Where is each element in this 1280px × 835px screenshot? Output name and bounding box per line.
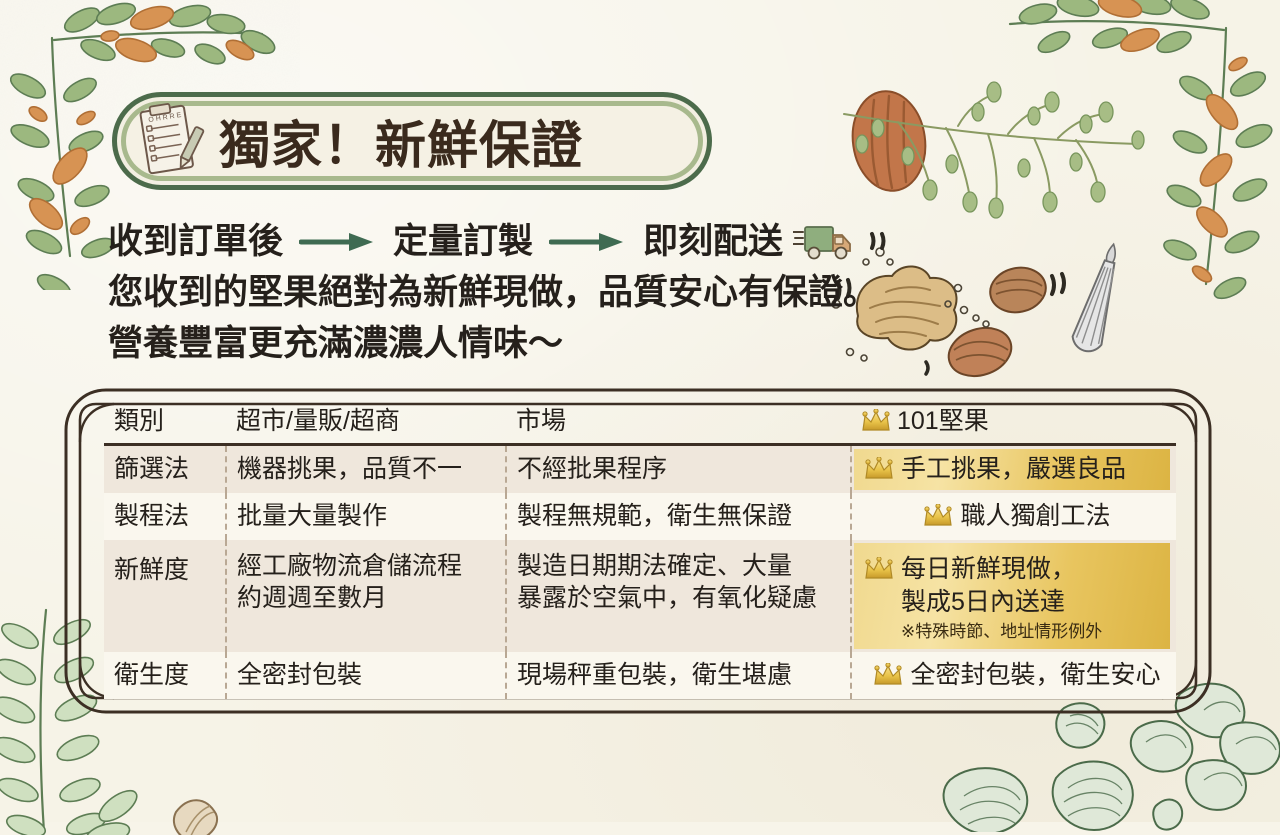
cell-text: 經工廠物流倉儲流程 bbox=[237, 550, 501, 583]
column-header-category: 類別 bbox=[104, 400, 226, 444]
cell-category: 新鮮度 bbox=[104, 540, 226, 652]
cell-text: 約週週至數月 bbox=[237, 582, 501, 615]
cell-supermarket: 全密封包裝 bbox=[226, 652, 506, 699]
cell-text: 現場秤重包裝，衛生堪慮 bbox=[517, 659, 846, 692]
arrow-right-icon bbox=[549, 216, 627, 267]
header-label: 類別 bbox=[114, 405, 222, 438]
cell-text: 全密封包裝，衛生安心 bbox=[910, 659, 1160, 692]
cell-supermarket: 批量大量製作 bbox=[226, 493, 506, 540]
table-header-row: 類別 超市/量販/超商 市場 bbox=[104, 400, 1176, 444]
cell-text: 全密封包裝 bbox=[237, 659, 501, 692]
cell-text: 手工挑果，嚴選良品 bbox=[901, 453, 1126, 486]
table-header: 類別 超市/量販/超商 市場 bbox=[104, 400, 1176, 444]
cell-category: 製程法 bbox=[104, 493, 226, 540]
cell-text: 每日新鮮現做， bbox=[901, 553, 1102, 586]
cell-text: 衛生度 bbox=[114, 659, 221, 692]
header-label: 101堅果 bbox=[897, 405, 989, 438]
cell-supermarket: 經工廠物流倉儲流程 約週週至數月 bbox=[226, 540, 506, 652]
cell-text: 新鮮度 bbox=[114, 554, 221, 587]
cell-category: 衛生度 bbox=[104, 652, 226, 699]
crown-icon bbox=[861, 409, 891, 433]
crown-icon bbox=[864, 457, 894, 481]
table-row: 衛生度 全密封包裝 現場秤重包裝，衛生堪慮 bbox=[104, 652, 1176, 699]
column-header-brand: 101堅果 bbox=[851, 400, 1176, 444]
process-step-3: 即刻配送 bbox=[643, 216, 783, 267]
cell-market: 製程無規範，衛生無保證 bbox=[506, 493, 851, 540]
cell-text: 批量大量製作 bbox=[237, 500, 501, 533]
cell-text: 製成5日內送達 bbox=[901, 586, 1102, 619]
cell-supermarket: 機器挑果，品質不一 bbox=[226, 444, 506, 493]
header-label: 市場 bbox=[516, 405, 847, 438]
intro-line-2: 您收到的堅果絕對為新鮮現做，品質安心有保證。 bbox=[108, 267, 898, 318]
crown-icon bbox=[923, 504, 953, 528]
delivery-truck-icon bbox=[793, 221, 859, 263]
process-step-1: 收到訂單後 bbox=[108, 216, 283, 267]
table-row: 製程法 批量大量製作 製程無規範，衛生無保證 bbox=[104, 493, 1176, 540]
cell-text: 機器挑果，品質不一 bbox=[237, 453, 501, 486]
cell-market: 不經批果程序 bbox=[506, 444, 851, 493]
cell-text: 製程無規範，衛生無保證 bbox=[517, 500, 846, 533]
intro-line-3: 營養豐富更充滿濃濃人情味～ bbox=[108, 318, 898, 369]
cell-text: 製程法 bbox=[114, 500, 221, 533]
arrow-right-icon bbox=[299, 216, 377, 267]
cell-text: 職人獨創工法 bbox=[960, 500, 1110, 533]
column-header-market: 市場 bbox=[506, 400, 851, 444]
clipboard-checklist-icon: O H R R E bbox=[131, 100, 209, 182]
cell-brand: 每日新鮮現做， 製成5日內送達 ※特殊時節、地址情形例外 bbox=[851, 540, 1176, 652]
cell-text: 製造日期期法確定、大量 bbox=[517, 550, 846, 583]
header-label: 超市/量販/超商 bbox=[236, 405, 502, 438]
cell-text: 暴露於空氣中，有氧化疑慮 bbox=[517, 582, 846, 615]
cell-note: ※特殊時節、地址情形例外 bbox=[901, 621, 1102, 643]
cell-brand: 手工挑果，嚴選良品 bbox=[851, 444, 1176, 493]
cell-brand: 全密封包裝，衛生安心 bbox=[851, 652, 1176, 699]
crown-icon bbox=[864, 557, 894, 581]
crown-icon bbox=[873, 663, 903, 687]
title-banner: O H R R E 獨家！新鮮保證 bbox=[112, 92, 712, 190]
column-header-supermarket: 超市/量販/超商 bbox=[226, 400, 506, 444]
process-step-2: 定量訂製 bbox=[393, 216, 533, 267]
cell-text: 不經批果程序 bbox=[517, 453, 846, 486]
table-body: 篩選法 機器挑果，品質不一 不經批果程序 bbox=[104, 444, 1176, 699]
page-title: 獨家！新鮮保證 bbox=[219, 104, 583, 178]
cell-category: 篩選法 bbox=[104, 444, 226, 493]
intro-block: 收到訂單後 定量訂製 即刻配送 bbox=[108, 216, 898, 369]
motion-dots-icon bbox=[867, 216, 889, 267]
process-flow: 收到訂單後 定量訂製 即刻配送 bbox=[108, 216, 898, 267]
cell-market: 現場秤重包裝，衛生堪慮 bbox=[506, 652, 851, 699]
cell-text: 篩選法 bbox=[114, 453, 221, 486]
table-row: 篩選法 機器挑果，品質不一 不經批果程序 bbox=[104, 444, 1176, 493]
comparison-table-frame: 類別 超市/量販/超商 市場 bbox=[62, 386, 1214, 716]
cell-brand: 職人獨創工法 bbox=[851, 493, 1176, 540]
cell-market: 製造日期期法確定、大量 暴露於空氣中，有氧化疑慮 bbox=[506, 540, 851, 652]
comparison-table: 類別 超市/量販/超商 市場 bbox=[104, 400, 1176, 699]
table-row: 新鮮度 經工廠物流倉儲流程 約週週至數月 製造日期期法確定、大量 暴露於空氣中，… bbox=[104, 540, 1176, 652]
